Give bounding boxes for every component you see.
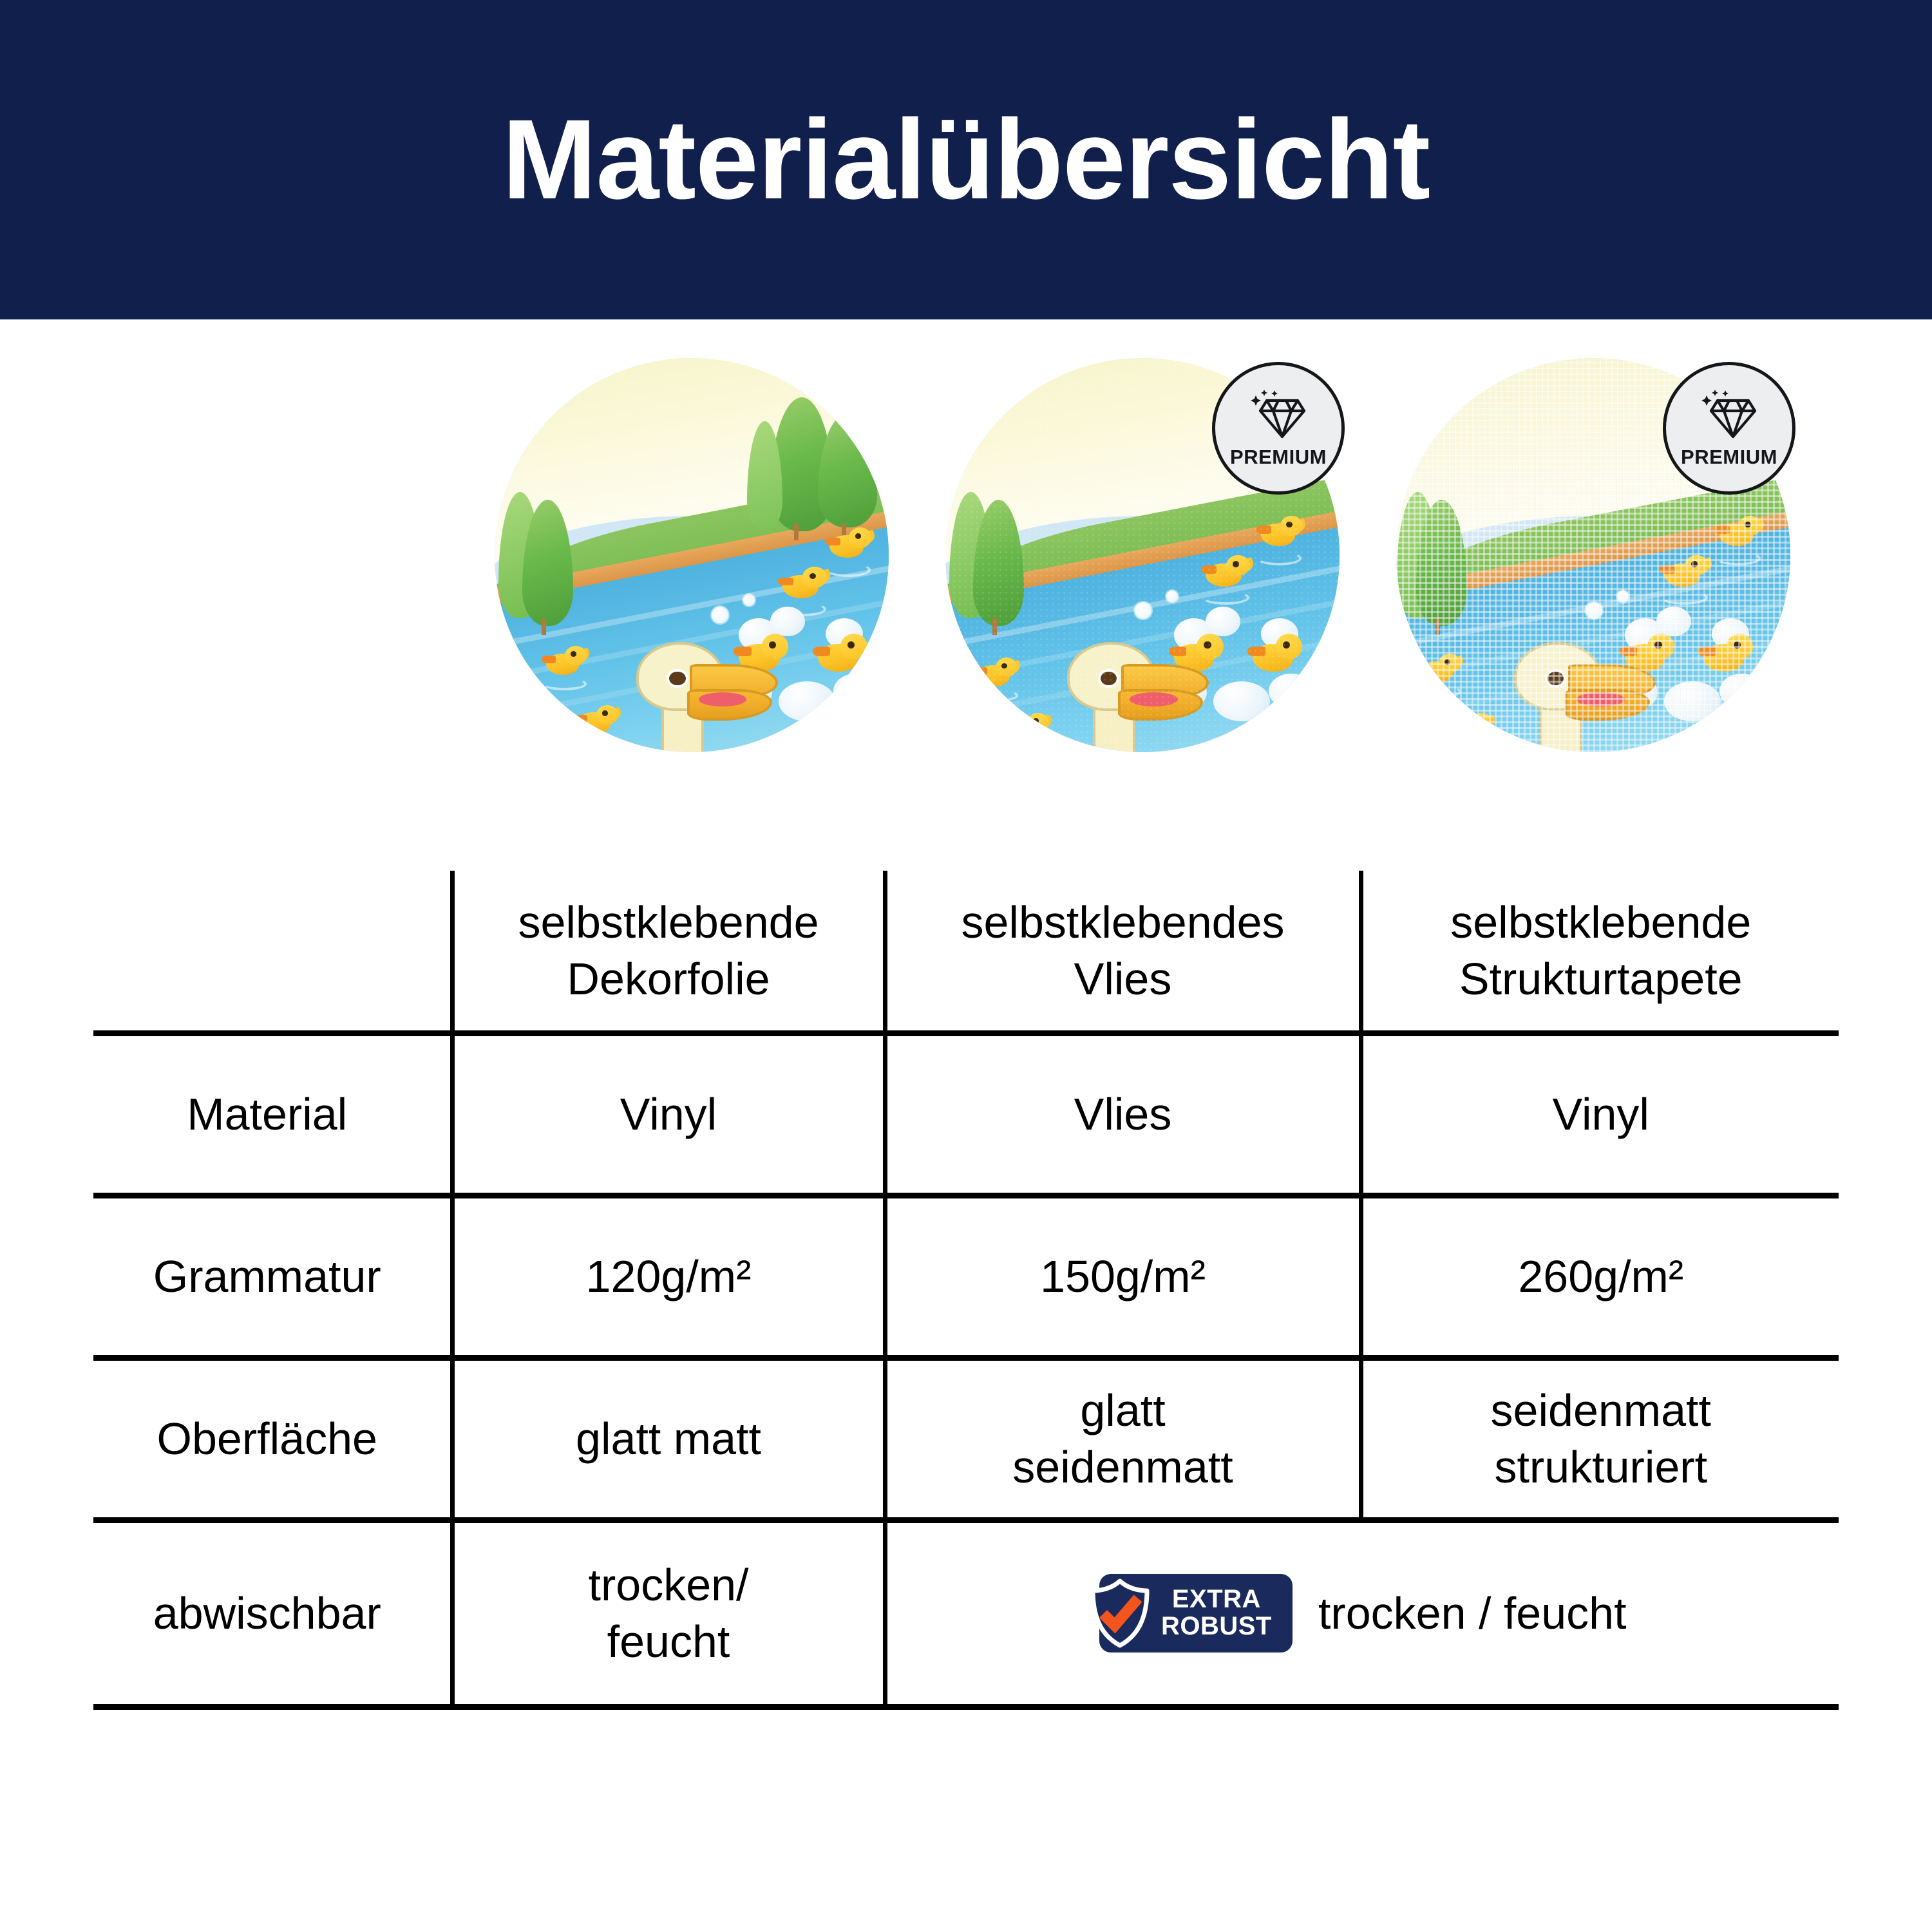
page-header: Materialübersicht — [0, 0, 1932, 319]
duckling-splashing — [818, 634, 869, 679]
duckling — [578, 705, 620, 740]
column-header-line2: Vlies — [896, 951, 1350, 1007]
mother-duck — [625, 642, 766, 752]
column-header-line2: Strukturtapete — [1372, 951, 1830, 1007]
cell-material-dekorfolie: Vinyl — [452, 1033, 885, 1195]
cell-line: glatt matt — [464, 1410, 874, 1467]
duckling — [829, 527, 873, 563]
premium-label: PREMIUM — [1230, 446, 1327, 469]
premium-badge: PREMIUM — [1212, 362, 1345, 495]
cell-material-strukturtapete: Vinyl — [1361, 1033, 1839, 1195]
column-header-vlies: selbstklebendes Vlies — [885, 871, 1361, 1033]
table-row: Grammatur 120g/m² 150g/m² 260g/m² — [93, 1195, 1839, 1358]
material-preview-row: PREMIUM — [0, 358, 1932, 752]
column-header-line2: Dekorfolie — [464, 951, 874, 1007]
row-label-abwischbar: abwischbar — [93, 1520, 452, 1707]
material-spec-table-wrapper: selbstklebende Dekorfolie selbstklebende… — [93, 871, 1839, 1710]
column-header-line1: selbstklebendes — [896, 894, 1350, 951]
column-header-strukturtapete: selbstklebende Strukturtapete — [1361, 871, 1839, 1033]
diamond-icon — [1247, 388, 1309, 442]
table-row: Oberfläche glatt matt glatt seidenmatt s… — [93, 1358, 1839, 1520]
column-header-dekorfolie: selbstklebende Dekorfolie — [452, 871, 885, 1033]
table-header-row: selbstklebende Dekorfolie selbstklebende… — [93, 871, 1839, 1033]
cell-grammatur-strukturtapete: 260g/m² — [1361, 1195, 1839, 1358]
cell-abwischbar-vlies-strukturtapete: EXTRA ROBUST trocken / feucht — [885, 1520, 1839, 1707]
cell-oberflaeche-vlies: glatt seidenmatt — [885, 1358, 1361, 1520]
table-row: Material Vinyl Vlies Vinyl — [93, 1033, 1839, 1195]
cell-line: trocken/ — [464, 1557, 874, 1613]
material-spec-table: selbstklebende Dekorfolie selbstklebende… — [93, 871, 1839, 1710]
cell-material-vlies: Vlies — [885, 1033, 1361, 1195]
badge-line-robust: ROBUST — [1161, 1613, 1272, 1640]
table-row: abwischbar trocken/ feucht — [93, 1520, 1839, 1707]
column-header-line1: selbstklebende — [1372, 894, 1830, 951]
row-label-grammatur: Grammatur — [93, 1195, 452, 1358]
column-header-line1: selbstklebende — [464, 894, 874, 951]
premium-label: PREMIUM — [1681, 446, 1777, 469]
cell-value-trocken-feucht: trocken / feucht — [1318, 1585, 1627, 1642]
extra-robust-badge: EXTRA ROBUST — [1099, 1574, 1293, 1653]
preview-strukturtapete[interactable]: PREMIUM — [1396, 358, 1790, 752]
cell-oberflaeche-strukturtapete: seidenmatt strukturiert — [1361, 1358, 1839, 1520]
cell-line: strukturiert — [1372, 1439, 1830, 1495]
premium-badge: PREMIUM — [1663, 362, 1795, 495]
table-corner-cell — [93, 871, 452, 1033]
preview-vlies[interactable]: PREMIUM — [945, 358, 1340, 752]
row-label-material: Material — [93, 1033, 452, 1195]
row-label-oberflaeche: Oberfläche — [93, 1358, 452, 1520]
page-title: Materialübersicht — [502, 103, 1430, 216]
cell-grammatur-vlies: 150g/m² — [885, 1195, 1361, 1358]
preview-image-dekorfolie — [495, 358, 889, 752]
cell-oberflaeche-dekorfolie: glatt matt — [452, 1358, 885, 1520]
preview-dekorfolie[interactable] — [495, 358, 889, 752]
duck-pond-illustration — [495, 358, 889, 752]
cell-line: seidenmatt — [896, 1439, 1350, 1495]
cell-line: seidenmatt — [1372, 1382, 1830, 1439]
cell-line: glatt — [896, 1382, 1350, 1439]
badge-line-extra: EXTRA — [1161, 1586, 1272, 1613]
cell-grammatur-dekorfolie: 120g/m² — [452, 1195, 885, 1358]
cell-abwischbar-dekorfolie: trocken/ feucht — [452, 1520, 885, 1707]
cell-line: feucht — [464, 1613, 874, 1670]
duckling — [546, 646, 589, 681]
duckling — [782, 567, 829, 604]
diamond-icon — [1698, 388, 1760, 442]
shield-check-icon — [1085, 1578, 1155, 1649]
